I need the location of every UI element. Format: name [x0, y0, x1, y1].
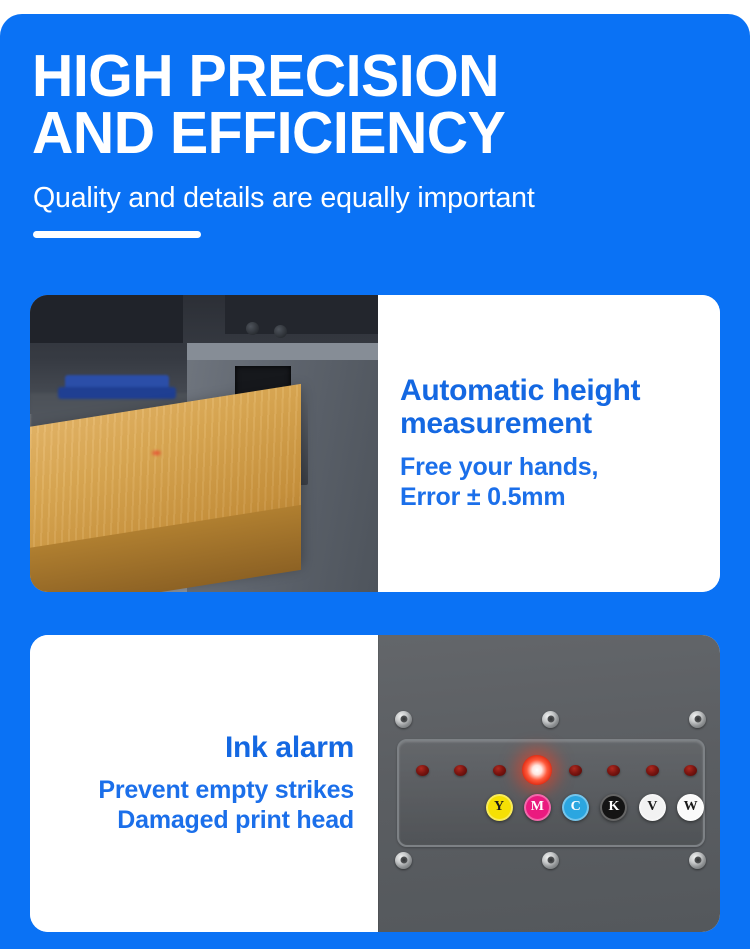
housing-screw-icon	[246, 322, 259, 335]
blue-roller-shadow	[58, 387, 176, 399]
ink-alarm-photo: YMCKVW	[378, 635, 720, 932]
card-title: Ink alarm	[225, 732, 354, 764]
photo-scene	[30, 295, 378, 592]
title-underline-rule	[33, 231, 201, 238]
card-subtitle: Prevent empty strikes Damaged print head	[98, 775, 354, 835]
card-subtitle: Free your hands, Error ± 0.5mm	[400, 452, 598, 512]
feature-card-height-measurement: Automatic height measurement Free your h…	[30, 295, 720, 592]
poster-root: HIGH PRECISION AND EFFICIENCY Quality an…	[0, 14, 750, 949]
page-title: HIGH PRECISION AND EFFICIENCY	[32, 48, 701, 161]
header: HIGH PRECISION AND EFFICIENCY Quality an…	[32, 48, 722, 238]
sensor-housing-top-face	[187, 343, 378, 361]
ink-badge-black: K	[600, 794, 627, 821]
height-measurement-text-block: Automatic height measurement Free your h…	[378, 295, 720, 592]
ink-badge-yellow: Y	[486, 794, 513, 821]
ink-badge-cyan: C	[562, 794, 589, 821]
height-sensor-photo	[30, 295, 378, 592]
ink-badge-varnish: V	[639, 794, 666, 821]
card-title: Automatic height measurement	[400, 375, 640, 440]
feature-card-ink-alarm: YMCKVW Ink alarm Prevent empty strikes D…	[30, 635, 720, 932]
page-subtitle: Quality and details are equally importan…	[33, 182, 712, 215]
ink-badge-magenta: M	[524, 794, 551, 821]
laser-dot	[152, 451, 161, 455]
machine-upper-block-left	[30, 295, 183, 343]
ink-color-badge-row: YMCKVW	[378, 635, 720, 932]
control-panel-surface: YMCKVW	[378, 635, 720, 932]
ink-badge-white: W	[677, 794, 704, 821]
housing-screw-icon	[274, 325, 287, 338]
ink-alarm-text-block: Ink alarm Prevent empty strikes Damaged …	[30, 635, 378, 932]
